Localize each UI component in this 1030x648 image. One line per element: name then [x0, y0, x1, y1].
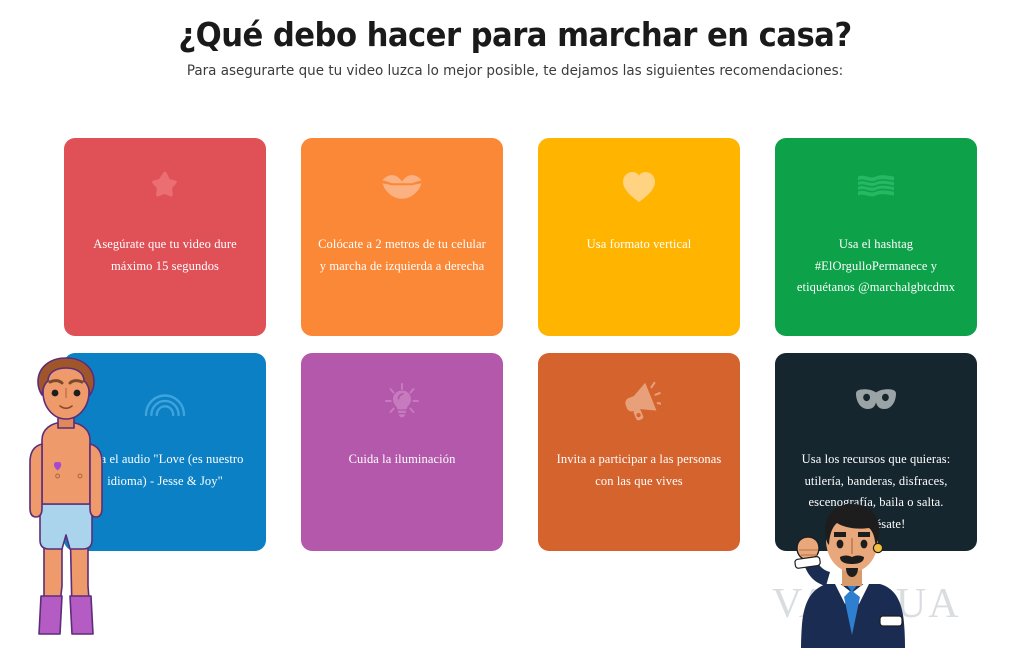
heart-icon: [613, 164, 665, 210]
lips-icon: [376, 164, 428, 210]
rainbow-icon: [139, 379, 191, 425]
recommendation-card-2[interactable]: Colócate a 2 metros de tu celular y marc…: [301, 138, 503, 336]
lightbulb-icon: [376, 379, 428, 425]
page-title: ¿Qué debo hacer para marchar en casa?: [36, 16, 994, 54]
poster-header: ¿Qué debo hacer para marchar en casa? Pa…: [0, 0, 1030, 79]
recommendations-grid: Asegúrate que tu video dure máximo 15 se…: [64, 138, 979, 551]
recommendation-card-6[interactable]: Cuida la iluminación: [301, 353, 503, 551]
megaphone-icon: [613, 379, 665, 425]
card-text: Invita a participar a las personas con l…: [538, 449, 740, 492]
page-subtitle: Para asegurarte que tu video luzca lo me…: [36, 63, 994, 79]
card-text: Asegúrate que tu video dure máximo 15 se…: [64, 234, 266, 277]
card-text: Colócate a 2 metros de tu celular y marc…: [301, 234, 503, 277]
recommendation-card-4[interactable]: Usa el hashtag #ElOrgulloPermanece y eti…: [775, 138, 977, 336]
star-icon: [139, 164, 191, 210]
recommendation-card-1[interactable]: Asegúrate que tu video dure máximo 15 se…: [64, 138, 266, 336]
person-raised-fist-illustration: [788, 498, 914, 648]
mask-icon: [850, 379, 902, 425]
card-text: Cuida la iluminación: [335, 449, 470, 471]
recommendation-card-7[interactable]: Invita a participar a las personas con l…: [538, 353, 740, 551]
flag-icon: [850, 164, 902, 210]
recommendation-card-3[interactable]: Usa formato vertical: [538, 138, 740, 336]
person-standing-illustration: [14, 352, 118, 645]
poster-canvas: ¿Qué debo hacer para marchar en casa? Pa…: [0, 0, 1030, 648]
card-text: Usa el hashtag #ElOrgulloPermanece y eti…: [775, 234, 977, 299]
card-text: Usa formato vertical: [573, 234, 706, 256]
